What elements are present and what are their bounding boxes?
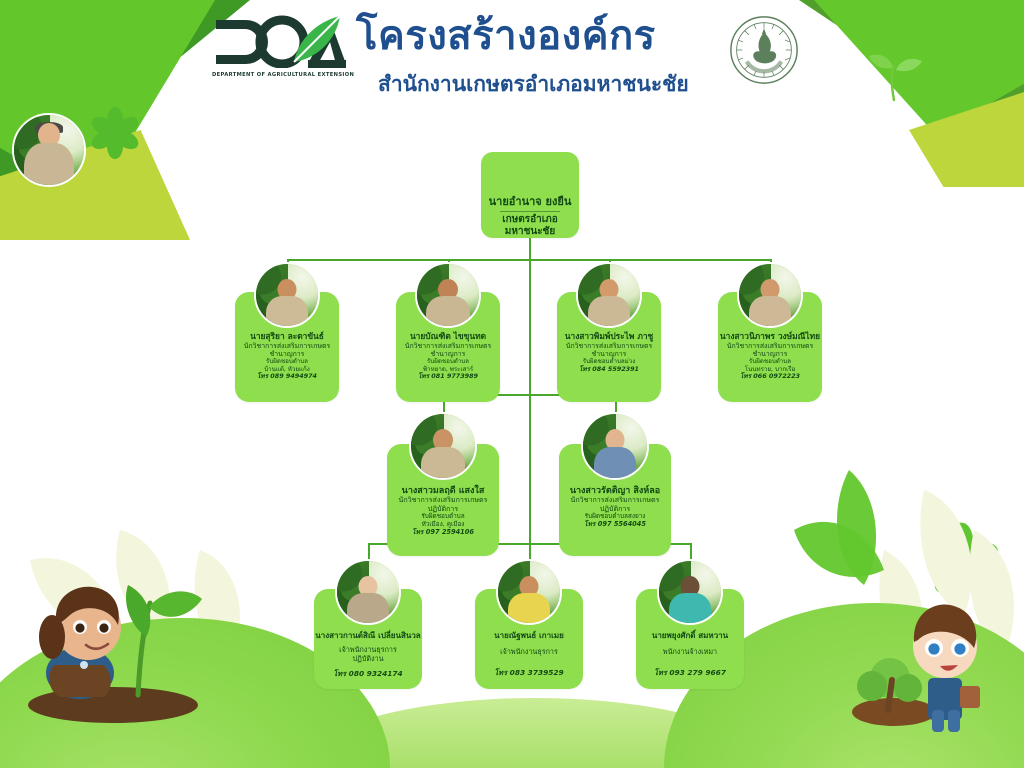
avatar-officer-1 bbox=[254, 262, 320, 328]
org-chart-poster: DEPARTMENT OF AGRICULTURAL EXTENSION โคร… bbox=[0, 0, 1024, 768]
org-card-rank: ชำนาญการ bbox=[396, 350, 500, 358]
connector-spine-row2-row3 bbox=[529, 394, 531, 544]
connector-row3-drop-2 bbox=[529, 543, 531, 559]
org-card-role-line1: เกษตรอำเภอ bbox=[481, 214, 579, 226]
org-card-name: นายพยุงศักดิ์ สมหวาน bbox=[636, 631, 744, 640]
org-card-name: นางสาวพิมพ์ประไพ ภาชู bbox=[557, 332, 661, 342]
avatar-officer-6 bbox=[581, 412, 649, 480]
org-card-rank: ชำนาญการ bbox=[235, 350, 339, 358]
avatar-officer-5 bbox=[409, 412, 477, 480]
avatar-staff-1 bbox=[335, 559, 401, 625]
org-card-role: นักวิชาการส่งเสริมการเกษตร bbox=[718, 342, 822, 350]
avatar-officer-2 bbox=[415, 262, 481, 328]
org-card-phone: โทร 083 3739529 bbox=[475, 669, 583, 678]
avatar-officer-3 bbox=[576, 262, 642, 328]
org-card-name: นายสุริยา ละดาขันธ์ bbox=[235, 332, 339, 342]
org-card-name: นายบัณฑิต ไขขุนทด bbox=[396, 332, 500, 342]
org-card-phone: โทร 097 5564045 bbox=[559, 521, 671, 529]
avatar-staff-3 bbox=[657, 559, 723, 625]
avatar-staff-2 bbox=[496, 559, 562, 625]
org-card-area-label: รับผิดชอบตำบล bbox=[235, 358, 339, 365]
org-card-phone: โทร 066 0972223 bbox=[718, 373, 822, 381]
org-card-rank: ชำนาญการ bbox=[718, 350, 822, 358]
org-card-role: เจ้าพนักงานธุรการ bbox=[475, 648, 583, 657]
connector-spine-row1-row2 bbox=[529, 259, 531, 415]
org-card-role: พนักงานจ้างเหมา bbox=[636, 648, 744, 657]
connector-row3-drop-1 bbox=[368, 543, 370, 559]
org-card-phone: โทร 081 9773989 bbox=[396, 373, 500, 381]
org-card-phone: โทร 097 2594106 bbox=[387, 529, 499, 537]
connector-row3-drop-3 bbox=[690, 543, 692, 559]
org-card-name: นางสาวกานต์สิณี เปลี่ยนสินวล bbox=[314, 631, 422, 640]
org-card-rank: ปฏิบัติงาน bbox=[314, 655, 422, 664]
org-card-name: นางสาวนิภาพร วงษ์มณีไทย bbox=[718, 332, 822, 342]
org-card-rank: ชำนาญการ bbox=[557, 350, 661, 358]
org-card-phone: โทร 089 9494974 bbox=[235, 373, 339, 381]
org-card-role-line2: มหาชนะชัย bbox=[481, 226, 579, 238]
connector-head-down bbox=[529, 238, 531, 260]
org-card-role: นักวิชาการส่งเสริมการเกษตร bbox=[557, 342, 661, 350]
org-card-phone: โทร 084 5592391 bbox=[557, 366, 661, 374]
org-card-head[interactable]: นายอำนาจ ยงยืน เกษตรอำเภอ มหาชนะชัย bbox=[481, 152, 579, 238]
org-card-name: นายณัฐพนธ์ เกาเมย bbox=[475, 631, 583, 640]
org-card-area-label: รับผิดชอบตำบล bbox=[396, 358, 500, 365]
divider bbox=[500, 211, 561, 212]
avatar-officer-4 bbox=[737, 262, 803, 328]
org-card-phone: โทร 080 9324174 bbox=[314, 670, 422, 679]
avatar-head-officer bbox=[12, 113, 86, 187]
org-card-name: นายอำนาจ ยงยืน bbox=[481, 196, 579, 209]
org-card-role: นักวิชาการส่งเสริมการเกษตร bbox=[235, 342, 339, 350]
org-card-area-label: รับผิดชอบตำบล bbox=[718, 358, 822, 365]
org-card-role: นักวิชาการส่งเสริมการเกษตร bbox=[396, 342, 500, 350]
org-card-phone: โทร 093 279 9667 bbox=[636, 669, 744, 678]
